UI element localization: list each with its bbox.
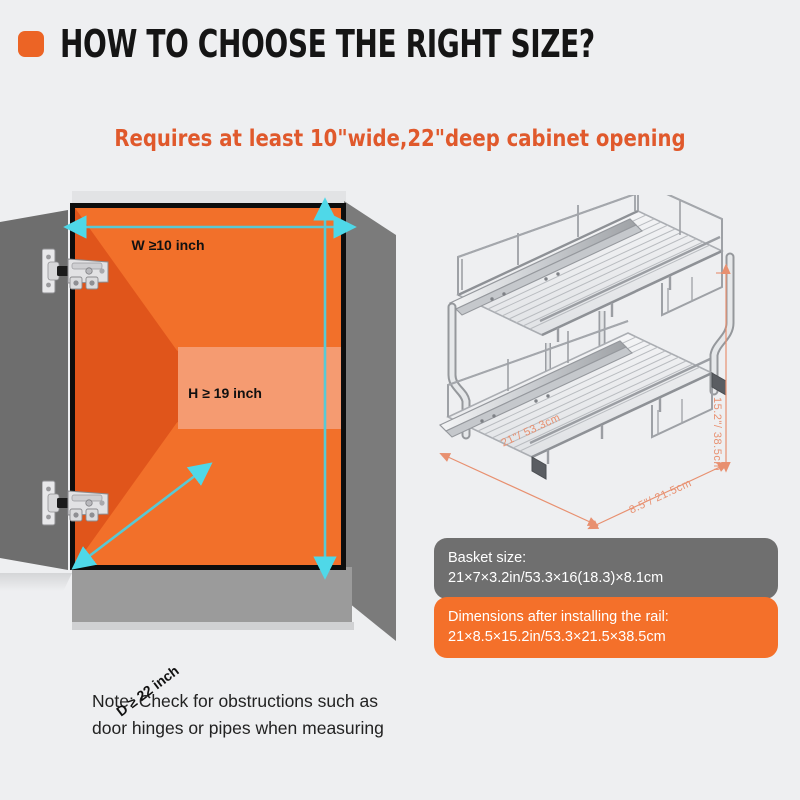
cabinet-diagram: W ≥10 inch H ≥ 19 inch D ≥ 22 inch: [0, 185, 420, 650]
pullout-basket-rack-illustration: 21"/ 53.3cm 8.5"/ 21.5cm 15.2"/ 38.5cm: [430, 195, 780, 545]
cabinet-height-label: H ≥ 19 inch: [188, 385, 262, 401]
cabinet-width-label: W ≥10 inch: [131, 237, 204, 253]
cabinet-door-shadow: [0, 573, 72, 591]
requirement-subtitle: Requires at least 10"wide,22"deep cabine…: [20, 126, 780, 152]
cabinet-hinge-top-icon: [42, 245, 120, 297]
rail-dimensions-value: 21×8.5×15.2in/53.3×21.5×38.5cm: [448, 627, 764, 647]
cabinet-base-panel: [72, 567, 352, 622]
page-title: HOW TO CHOOSE THE RIGHT SIZE?: [60, 22, 595, 66]
rack-dimension-arrows: [430, 195, 780, 545]
rail-dimensions-info-box: Dimensions after installing the rail: 21…: [434, 597, 778, 658]
rail-dimensions-title: Dimensions after installing the rail:: [448, 607, 764, 627]
basket-size-value: 21×7×3.2in/53.3×16(18.3)×8.1cm: [448, 568, 764, 588]
measuring-note-line2: door hinges or pipes when measuring: [92, 715, 472, 742]
title-bullet-icon: [18, 31, 44, 57]
basket-size-title: Basket size:: [448, 548, 764, 568]
rack-length-line: [448, 457, 590, 522]
page-header: HOW TO CHOOSE THE RIGHT SIZE?: [18, 22, 712, 66]
cabinet-hinge-bottom-icon: [42, 477, 120, 529]
rack-height-label: 15.2"/ 38.5cm: [711, 397, 723, 471]
cabinet-base-edge: [72, 622, 354, 630]
basket-size-info-box: Basket size: 21×7×3.2in/53.3×16(18.3)×8.…: [434, 538, 778, 599]
